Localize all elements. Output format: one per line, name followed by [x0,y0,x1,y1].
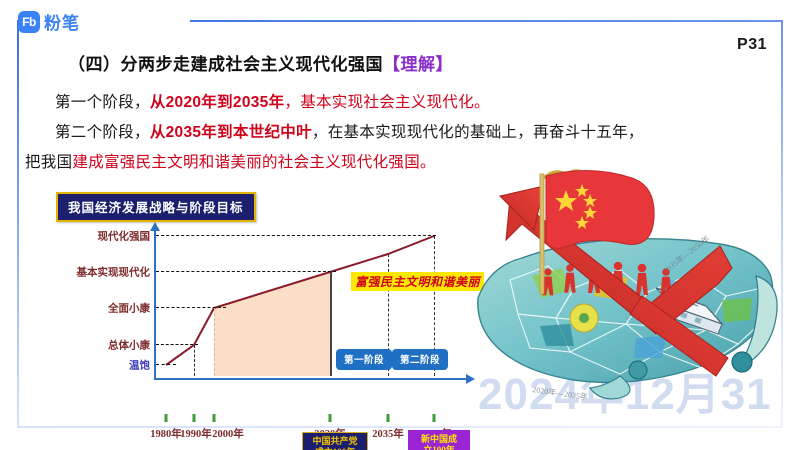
page-title-tag: 【理解】 [383,55,453,74]
y-label-2: 总体小康 [108,338,156,353]
slide-root: Fb 粉笔 P31 （四）分两步走建成社会主义现代化强国【理解】 第一个阶段，从… [0,0,800,450]
body-line-3: 把我国建成富强民主文明和谐美丽的社会主义现代化强国。 [25,150,436,172]
xtick-1980 [165,414,168,422]
brand-name: 粉笔 [44,9,80,34]
line2-tail: ，在基本实现现代化的基础上，再奋斗十五年， [312,124,644,141]
callout-cpc-100-years: 中国共产党 成立100年 [302,432,368,450]
fenbi-logo-icon: Fb [18,11,40,33]
line2-emphasis: 从2035年到本世纪中叶 [150,124,312,141]
line3-tail: 建成富强民主文明和谐美丽的社会主义现代化强国。 [72,154,435,171]
vline-2000 [214,308,215,376]
chart-title-banner: 我国经济发展战略与阶段目标 [56,192,256,222]
xtick-2020 [329,414,332,422]
line3-lead: 把我国 [25,154,72,171]
gridline-3: 全面小康 [156,307,226,308]
svg-text:2020年—2035年: 2020年—2035年 [532,384,589,402]
stage-one-badge: 第一阶段 [336,349,392,370]
vline-1990 [194,345,195,376]
page-number: P31 [737,36,767,54]
line1-tail: ，基本实现社会主义现代化。 [284,94,489,111]
x-label-1990: 1990年 [180,426,212,441]
chart-plot-area: 现代化强国 基本实现现代化 全面小康 总体小康 温饱 [156,234,446,376]
x-label-1980: 1980年 [150,426,182,441]
brand-logo: Fb 粉笔 [18,9,80,34]
line1-emphasis: 从2020年到2035年 [150,94,285,111]
chart-x-axis [154,378,466,380]
x-label-2035: 2035年 [372,426,404,441]
y-label-1: 温饱 [129,358,156,373]
x-label-2000: 2000年 [212,426,244,441]
vline-2020 [330,272,332,376]
gridline-2: 总体小康 [156,344,198,345]
xtick-2000 [213,414,216,422]
y-label-4: 基本实现现代化 [77,265,157,280]
development-strategy-chart: 我国经济发展战略与阶段目标 现代化强国 基本实现现代化 全面小康 总体小 [48,192,478,432]
china-development-illustration: 2035年—2050年 2020年—2035年 [470,148,790,428]
gridline-5: 现代化强国 [156,235,436,236]
y-label-3: 全面小康 [108,301,156,316]
illustration-svg: 2035年—2050年 2020年—2035年 [470,148,790,428]
xtick-1990 [193,414,196,422]
xtick-2050 [433,414,436,422]
body-line-2: 第二个阶段，从2035年到本世纪中叶，在基本实现现代化的基础上，再奋斗十五年， [55,120,644,142]
line1-lead: 第一个阶段， [55,94,150,111]
annotation-prosperous-label: 富强民主文明和谐美丽 [351,272,484,291]
body-line-1: 第一个阶段，从2020年到2035年，基本实现社会主义现代化。 [55,90,490,112]
watercolor-scroll-map [478,239,777,399]
callout-prc-100-years: 新中国成 立100年 [408,430,470,450]
gridline-1: 温饱 [156,364,176,365]
xtick-2035 [387,414,390,422]
gridline-4: 基本实现现代化 [156,271,336,272]
chart-shaded-region [214,272,330,376]
line2-lead: 第二个阶段， [55,124,150,141]
page-title-main: （四）分两步走建成社会主义现代化强国 [68,55,383,74]
page-title: （四）分两步走建成社会主义现代化强国【理解】 [68,50,453,75]
y-label-5: 现代化强国 [98,229,157,244]
stage-two-badge: 第二阶段 [392,349,448,370]
